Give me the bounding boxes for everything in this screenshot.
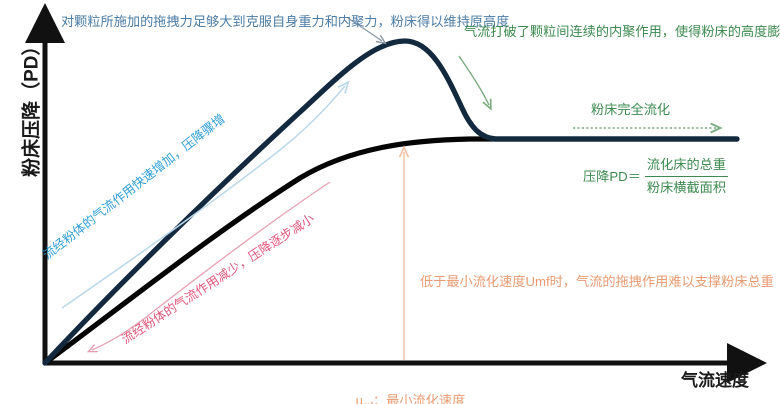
annotation-pressure-drop-formula: 压降PD＝ 流化床的总重 粉床横截面积 bbox=[583, 155, 728, 199]
annotation-below-umf: 低于最小流化速度Umf时，气流的拖拽作用难以支撑粉床总重 bbox=[420, 272, 655, 292]
expansion-pointer-arrow bbox=[459, 56, 489, 105]
annotation-fully-fluidised: 粉床完全流化 bbox=[591, 100, 670, 120]
formula-fraction: 流化床的总重 粉床横截面积 bbox=[645, 155, 728, 199]
umf-symbol: u bbox=[356, 393, 363, 404]
formula-numerator: 流化床的总重 bbox=[645, 155, 728, 176]
annotation-bed-expansion: 气流打破了颗粒间连续的内聚作用，使得粉床的高度膨胀 bbox=[464, 22, 709, 42]
umf-axis-caption: umf：最小流化速度 bbox=[341, 371, 465, 404]
umf-definition: ：最小流化速度 bbox=[373, 393, 465, 404]
annotation-drag-force-note: 对颗粒所施加的拖拽力足够大到克服自身重力和内聚力，粉床得以维持原高度 bbox=[61, 12, 361, 32]
x-axis-label: 气流速度 bbox=[681, 368, 749, 394]
diagram-canvas: 粉床压降（PD） 气流速度 对颗粒所施加的拖拽力足够大到克服自身重力和内聚力，粉… bbox=[0, 0, 780, 404]
formula-left-hand-side: 压降PD＝ bbox=[583, 167, 645, 187]
y-axis-label: 粉床压降（PD） bbox=[17, 17, 46, 197]
formula-denominator: 粉床横截面积 bbox=[645, 176, 728, 198]
